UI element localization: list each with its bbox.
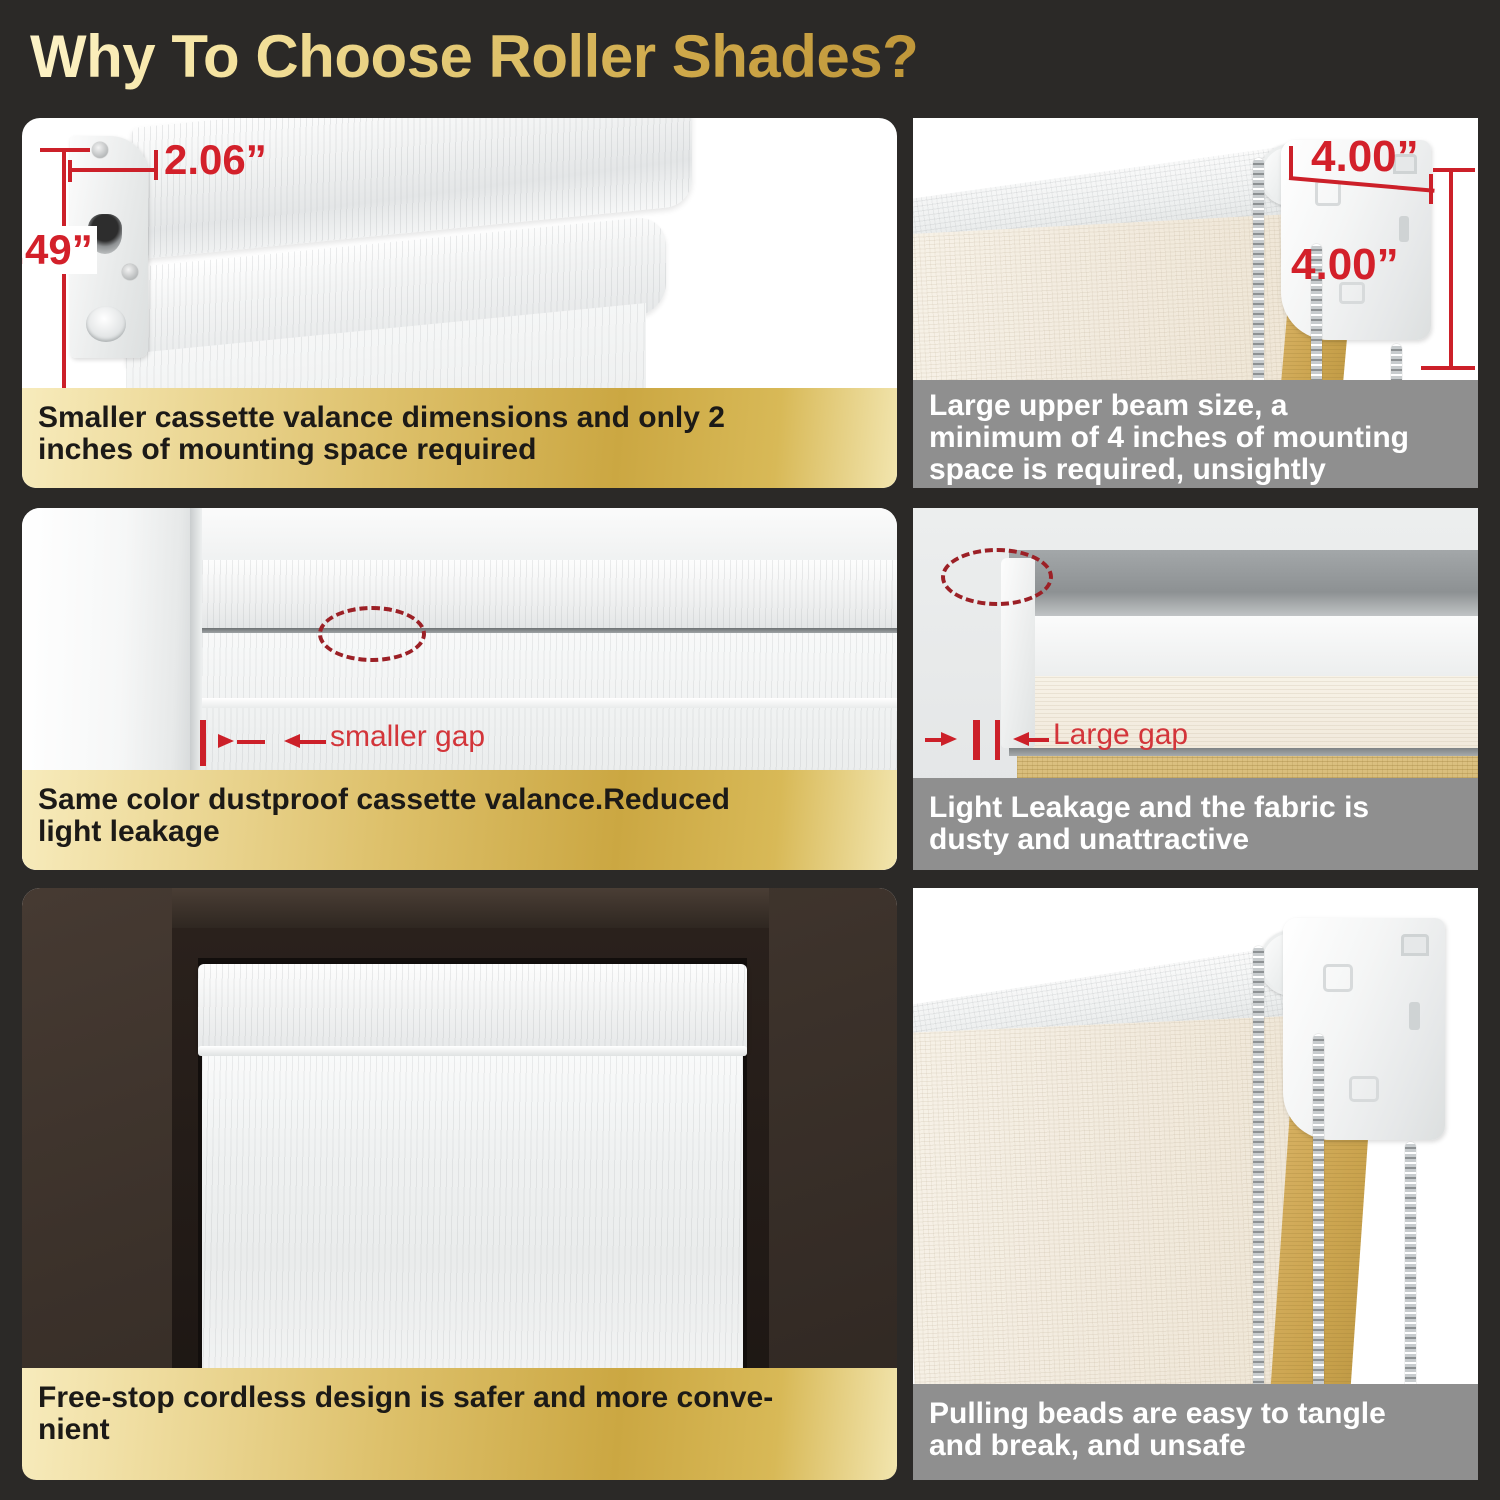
mounting-bracket — [1283, 918, 1445, 1140]
caption-line-1: Large upper beam size, a — [929, 389, 1287, 422]
panel-4-caption-bar: Light Leakage and the fabric is dusty an… — [913, 778, 1478, 870]
bracket-emboss-lower-icon — [1349, 1076, 1379, 1102]
gap-marker-line-1 — [973, 720, 980, 760]
dim-tick-top — [1433, 168, 1475, 172]
caption-line-2: dusty and unattractive — [929, 823, 1249, 856]
caption-line-2: inches of mounting space required — [38, 433, 536, 466]
gap-highlight-oval — [941, 548, 1053, 606]
panel-4-caption-text: Light Leakage and the fabric is dusty an… — [913, 778, 1385, 856]
gap-marker-line — [200, 720, 206, 766]
dimension-width-label: 2.06” — [164, 136, 267, 184]
bracket-screw-slot — [1399, 216, 1409, 242]
window-header-trim — [172, 888, 769, 928]
dimension-width-label: 4.00” — [1311, 132, 1419, 182]
panel-2-caption-text: Large upper beam size, a minimum of 4 in… — [913, 380, 1425, 485]
caption-line-1: Light Leakage and the fabric is — [929, 791, 1369, 824]
bracket-screw-slot — [1409, 1002, 1420, 1030]
head-rail — [1009, 550, 1478, 620]
caption-line-1: Free-stop cordless design is safer and m… — [38, 1381, 773, 1414]
dimension-height-label: 4.00” — [1291, 240, 1399, 290]
panel-2-caption-bar: Large upper beam size, a minimum of 4 in… — [913, 380, 1478, 488]
bracket-clip-slot — [1401, 934, 1429, 956]
caption-line-2: nient — [38, 1413, 110, 1446]
cassette-valance — [190, 560, 897, 632]
dim-line-height — [1449, 168, 1453, 368]
infographic-root: Why To Choose Roller Shades? 2.06” 5.49” — [0, 0, 1500, 1500]
panel-6-caption-bar: Pulling beads are easy to tangle and bre… — [913, 1384, 1478, 1480]
panel-1-smaller-cassette: 2.06” 5.49” Smaller cassette valance dim… — [22, 118, 897, 488]
panel-4-light-leakage: Large gap Light Leakage and the fabric i… — [913, 508, 1478, 870]
panel-6-caption-text: Pulling beads are easy to tangle and bre… — [913, 1384, 1402, 1462]
dim-tick-left — [1289, 146, 1293, 180]
panel-2-large-beam: 4.00” 4.00” Large upper beam size, a min… — [913, 118, 1478, 488]
dim-tick-right — [154, 150, 158, 180]
seam-highlight-oval — [318, 606, 426, 662]
dim-tick-bottom — [1421, 366, 1475, 370]
panel-5-caption-bar: Free-stop cordless design is safer and m… — [22, 1368, 897, 1480]
bracket-screw-top-icon — [92, 142, 108, 158]
caption-line-2: light leakage — [38, 815, 220, 848]
panel-5-caption-text: Free-stop cordless design is safer and m… — [22, 1368, 789, 1446]
dimension-height-label: 5.49” — [22, 226, 97, 274]
caption-line-3: space is required, unsightly — [929, 453, 1326, 486]
caption-line-1: Pulling beads are easy to tangle — [929, 1397, 1386, 1430]
panel-1-caption-bar: Smaller cassette valance dimensions and … — [22, 388, 897, 488]
caption-line-2: minimum of 4 inches of mounting — [929, 421, 1409, 454]
gap-arrow-tail-right — [300, 740, 326, 744]
bracket-screw-icon — [122, 264, 138, 280]
shade-top-fabric — [1009, 616, 1478, 678]
caption-line-1: Smaller cassette valance dimensions and … — [38, 401, 725, 434]
bracket-knob — [86, 306, 126, 342]
panel-3-caption-text: Same color dustproof cassette valance.Re… — [22, 770, 746, 848]
dim-line-width — [68, 168, 158, 172]
panel-5-cordless-design: Free-stop cordless design is safer and m… — [22, 888, 897, 1480]
gap-marker-line-2 — [995, 720, 1000, 760]
cassette-valance — [198, 964, 747, 1052]
panel-3-dustproof-valance: smaller gap Same color dustproof cassett… — [22, 508, 897, 870]
bracket-emboss-icon — [1323, 964, 1353, 992]
bead-chain-left[interactable] — [1253, 946, 1264, 1454]
gap-arrow-right-icon — [218, 734, 234, 748]
caption-line-2: and break, and unsafe — [929, 1429, 1246, 1462]
panel-6-pulling-beads: Pulling beads are easy to tangle and bre… — [913, 888, 1478, 1480]
page-title: Why To Choose Roller Shades? — [30, 22, 918, 91]
cassette-lip — [198, 1046, 747, 1056]
shade-fabric — [202, 1056, 743, 1386]
shade-fabric — [913, 1016, 1309, 1443]
panel-1-caption-text: Smaller cassette valance dimensions and … — [22, 388, 741, 466]
panel-3-caption-bar: Same color dustproof cassette valance.Re… — [22, 770, 897, 870]
gap-arrow-left-icon — [284, 734, 300, 748]
caption-line-1: Same color dustproof cassette valance.Re… — [38, 783, 730, 816]
gap-callout-label: Large gap — [1053, 718, 1188, 752]
gap-arrow-tail-left — [237, 740, 265, 744]
window-frame-top — [172, 508, 897, 568]
gap-arrow-tail-left — [925, 738, 945, 742]
dim-tick-right — [1429, 174, 1433, 204]
gap-callout-label: smaller gap — [330, 720, 485, 754]
gap-arrow-tail-right — [1027, 738, 1049, 742]
fabric-band-1 — [190, 698, 897, 708]
